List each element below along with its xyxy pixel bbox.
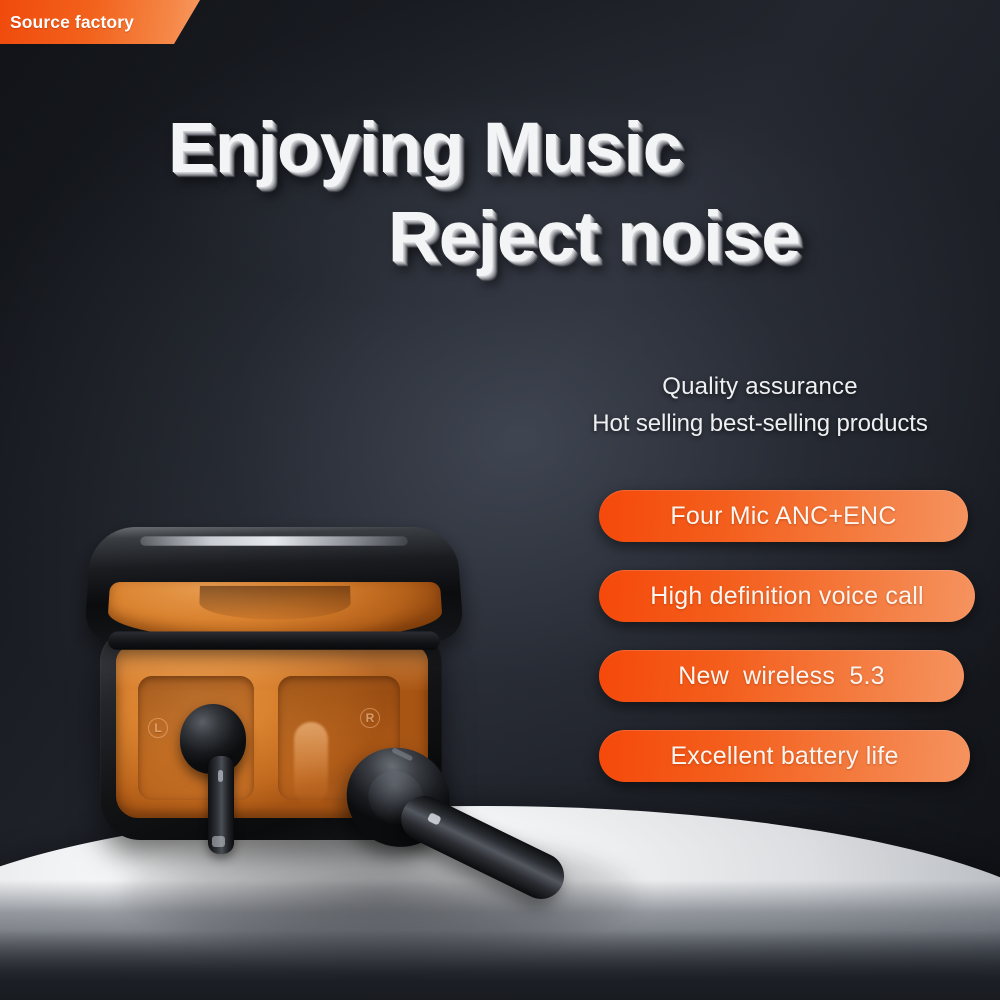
charging-case-lid bbox=[84, 527, 465, 642]
subcopy-line-1: Quality assurance bbox=[560, 368, 960, 405]
feature-pill-wireless-version[interactable]: New wireless 5.3 bbox=[599, 650, 964, 702]
feature-pill-battery[interactable]: Excellent battery life bbox=[599, 730, 970, 782]
earbud-seated bbox=[180, 704, 246, 854]
earbud-seated-indicator bbox=[218, 770, 223, 782]
headline-line-2: Reject noise bbox=[0, 193, 1000, 282]
promo-banner-stage: L R Source factory Enjoying Music R bbox=[0, 0, 1000, 1000]
right-channel-mark: R bbox=[360, 708, 380, 728]
feature-pill-label: Four Mic ANC+ENC bbox=[670, 502, 896, 531]
subcopy-block: Quality assurance Hot selling best-selli… bbox=[560, 368, 960, 443]
feature-pill-label: New wireless 5.3 bbox=[678, 662, 884, 691]
lid-hinge bbox=[108, 631, 441, 649]
product-image-earbuds: L R bbox=[72, 508, 502, 878]
feature-pill-list: Four Mic ANC+ENC High definition voice c… bbox=[599, 490, 975, 810]
subcopy-line-2: Hot selling best-selling products bbox=[560, 405, 960, 442]
feature-pill-label: Excellent battery life bbox=[670, 742, 898, 771]
feature-pill-voice-call[interactable]: High definition voice call bbox=[599, 570, 975, 622]
source-factory-label: Source factory bbox=[0, 12, 134, 33]
feature-pill-anc[interactable]: Four Mic ANC+ENC bbox=[599, 490, 968, 542]
source-factory-badge: Source factory bbox=[0, 0, 200, 44]
headline-block: Enjoying Music Reject noise bbox=[0, 104, 1000, 283]
left-channel-mark: L bbox=[148, 718, 168, 738]
tray-highlight bbox=[294, 722, 328, 804]
feature-pill-label: High definition voice call bbox=[650, 582, 923, 611]
lid-chrome-rim bbox=[140, 536, 408, 545]
earbud-seated-contact bbox=[212, 836, 225, 847]
headline-line-1: Enjoying Music bbox=[0, 104, 1000, 193]
